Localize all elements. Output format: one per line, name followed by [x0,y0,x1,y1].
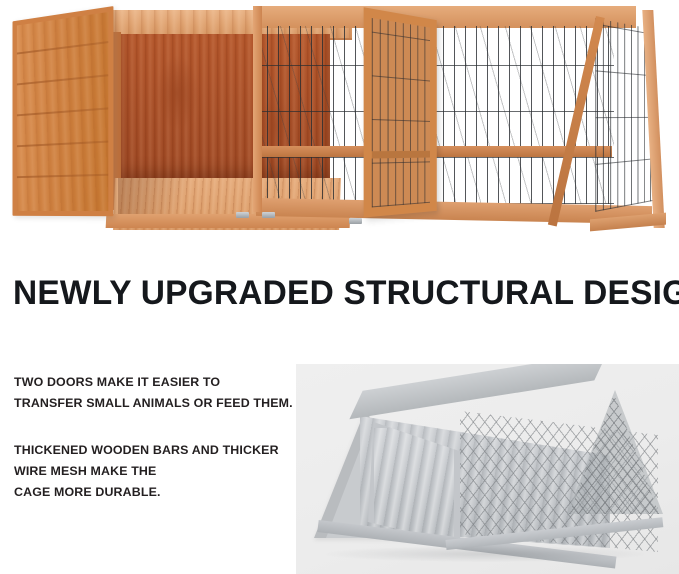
feature-text-line: WIRE MESH MAKE THE [14,461,279,482]
feature-text-block-durability: THICKENED WOODEN BARS AND THICKER WIRE M… [14,440,279,503]
hinge-icon [349,218,362,224]
run-far-end-panel [586,10,672,224]
page-title: NEWLY UPGRADED STRUCTURAL DESIGN [13,274,663,313]
feature-text-line: TRANSFER SMALL ANIMALS OR FEED THEM. [14,393,293,414]
feature-text-line: TWO DOORS MAKE IT EASIER TO [14,372,293,393]
product-photo-top [0,0,679,236]
feature-text-block-doors: TWO DOORS MAKE IT EASIER TO TRANSFER SMA… [14,372,293,414]
grey-hutch-ground-shadow [326,546,646,562]
run-top-frame [256,6,636,28]
hinge-icon [236,212,249,218]
feature-text-line: CAGE MORE DURABLE. [14,482,279,503]
hutch-solid-door-open [12,6,113,216]
product-photo-grey-triangular-hutch [296,364,679,574]
hutch-mesh-door-open [364,7,437,217]
run-left-post [253,6,262,212]
hinge-icon [262,212,275,218]
feature-text-line: THICKENED WOODEN BARS AND THICKER [14,440,279,461]
hutch-wire-mesh-run [256,6,672,230]
run-end-foot-board [590,213,666,232]
mesh-door-rail [372,151,430,159]
mesh-door-wire-net [372,18,430,207]
